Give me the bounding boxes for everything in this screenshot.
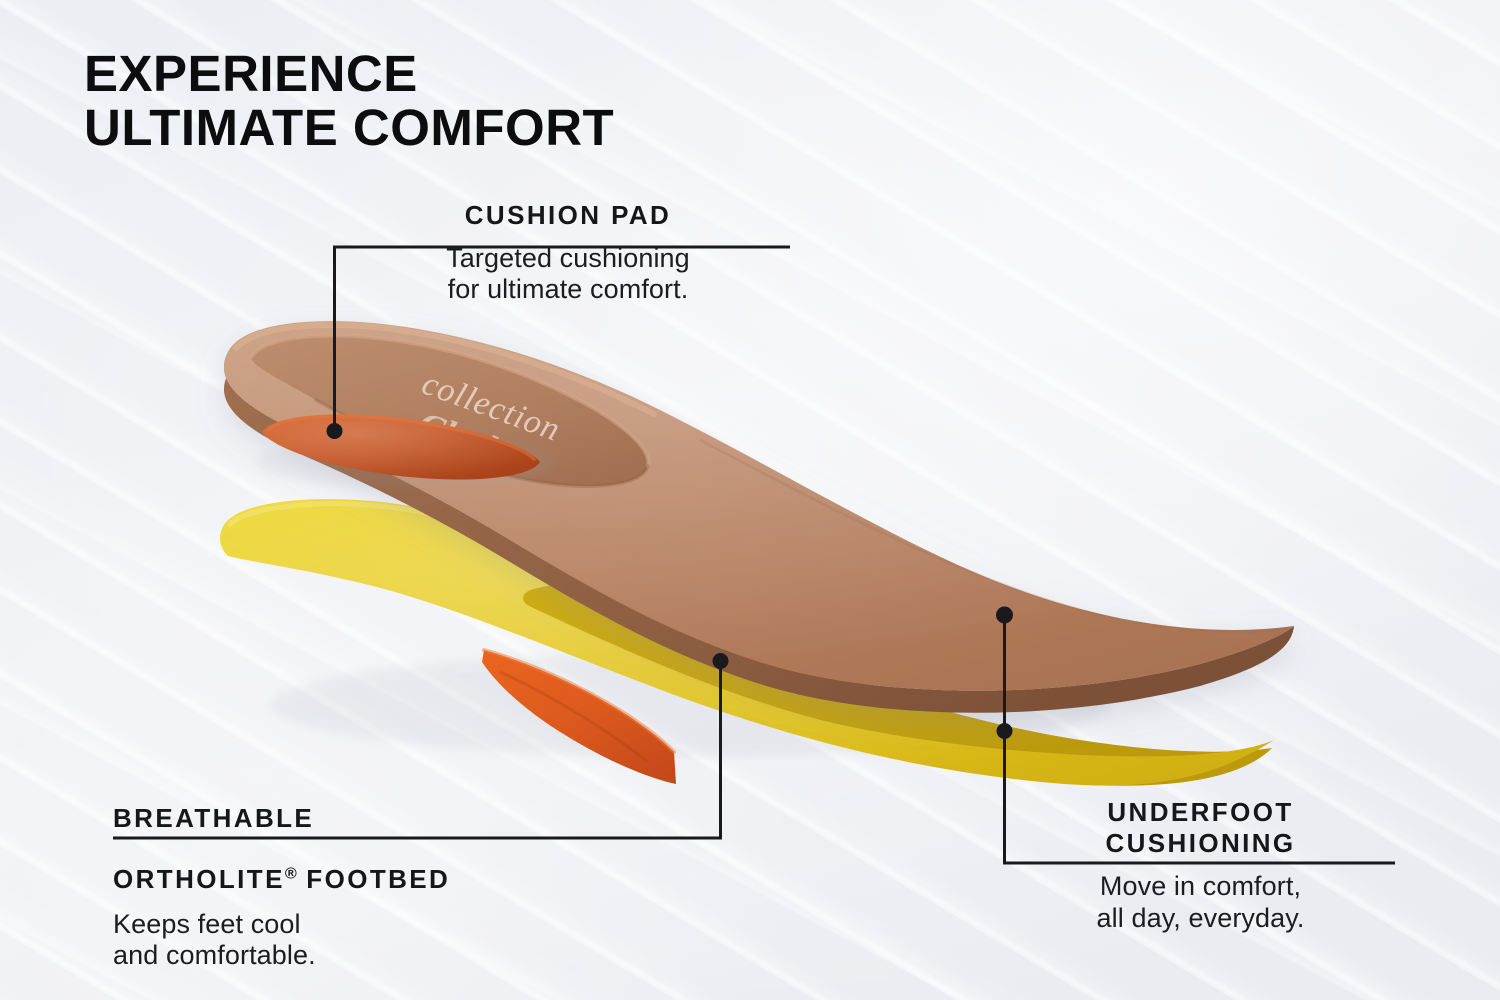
callout-ortholite-body: Keeps feet cool and comfortable. <box>113 895 733 972</box>
callout-underfoot-title: UNDERFOOT CUSHIONING <box>1003 797 1398 858</box>
callout-underfoot-body: Move in comfort, all day, everyday. <box>1003 858 1398 934</box>
callout-cushion-pad-title: CUSHION PAD <box>333 200 803 231</box>
underfoot-leader-dot-insole <box>996 607 1013 624</box>
callout-cushion-pad-body: Targeted cushioning for ultimate comfort… <box>333 231 803 306</box>
callout-cushion-pad: CUSHION PAD Targeted cushioning for ulti… <box>333 200 803 305</box>
callout-ortholite-title-brand: ORTHOLITE <box>113 864 285 894</box>
callout-ortholite-title-line2-post: FOOTBED <box>297 864 451 894</box>
ortholite-leader-dot <box>713 653 729 669</box>
infographic-root: collection Clarks EXPERIENCE ULTIMATE CO… <box>0 0 1500 1000</box>
page-headline: EXPERIENCE ULTIMATE COMFORT <box>84 47 614 155</box>
underfoot-leader-dot-footbed <box>997 723 1013 739</box>
cushion-pad-leader-dot <box>327 423 343 439</box>
callout-underfoot-cushioning: UNDERFOOT CUSHIONING Move in comfort, al… <box>1003 797 1398 934</box>
registered-trademark-icon: ® <box>285 864 297 882</box>
callout-ortholite-title-line1: BREATHABLE <box>113 803 314 833</box>
callout-ortholite-footbed: BREATHABLE ORTHOLITE® FOOTBED Keeps feet… <box>113 772 733 971</box>
callout-ortholite-title: BREATHABLE ORTHOLITE® FOOTBED <box>113 772 733 895</box>
